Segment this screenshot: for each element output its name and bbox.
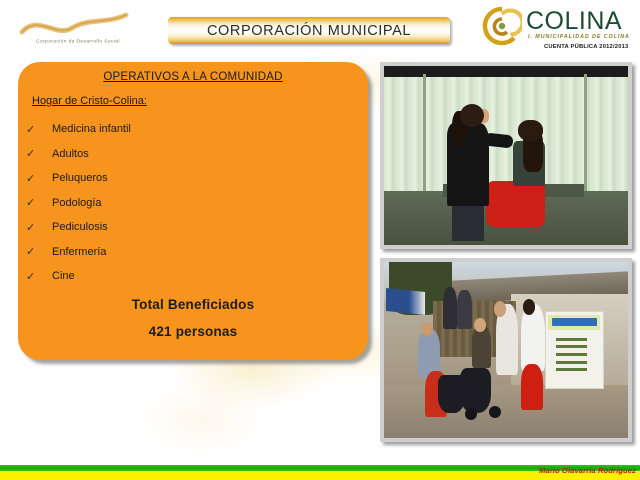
total-beneficiaries-value: 421 personas [18,324,368,339]
colina-wordmark: COLINA [526,7,622,36]
mayor-signature: Mario Olavarría Rodríguez [539,466,636,475]
check-mark-icon: ✓ [26,196,44,209]
photo-community-event [380,258,632,442]
wave-swoosh-icon [14,8,132,42]
content-card: OPERATIVOS A LA COMUNIDAD Hogar de Crist… [18,62,368,360]
check-mark-icon: ✓ [26,147,44,160]
check-mark-icon: ✓ [26,172,44,185]
photo-scene-outdoor [384,262,628,438]
photo-scene-indoor [384,66,628,245]
slide-title-banner: CORPORACIÓN MUNICIPAL [168,17,450,44]
corporacion-logo-caption: Corporación de Desarrollo Social [36,38,120,44]
colina-municipality-logo: COLINA I. MUNICIPALIDAD DE COLINA CUENTA… [482,4,636,56]
list-item: ✓ Cine [18,264,368,289]
services-check-list: ✓ Medicina infantil ✓ Adultos ✓ Peluquer… [18,117,368,289]
total-beneficiaries-label: Total Beneficiados [18,297,368,312]
colina-poster [545,311,604,388]
cuenta-publica-label: CUENTA PÚBLICA 2012/2013 [544,44,628,50]
check-mark-icon: ✓ [26,123,44,136]
list-item: ✓ Adultos [18,142,368,167]
list-item-label: Podología [52,197,102,209]
colina-spiral-icon [482,6,522,46]
totals-block: Total Beneficiados 421 personas [18,297,368,339]
photo-hair-care-image [384,66,628,245]
slide-canvas: Corporación de Desarrollo Social CORPORA… [0,0,640,480]
list-item-label: Peluqueros [52,172,108,184]
list-item-label: Adultos [52,148,89,160]
list-item: ✓ Peluqueros [18,166,368,191]
list-item-label: Enfermería [52,246,106,258]
list-item-label: Cine [52,270,75,282]
check-mark-icon: ✓ [26,245,44,258]
corporacion-desarrollo-social-logo: Corporación de Desarrollo Social [14,8,132,50]
page-title: CORPORACIÓN MUNICIPAL [207,23,411,39]
list-item: ✓ Medicina infantil [18,117,368,142]
check-mark-icon: ✓ [26,270,44,283]
list-item: ✓ Enfermería [18,240,368,265]
list-item: ✓ Podología [18,191,368,216]
list-item-label: Medicina infantil [52,123,131,135]
list-item-label: Pediculosis [52,221,108,233]
check-mark-icon: ✓ [26,221,44,234]
colina-subtitle: I. MUNICIPALIDAD DE COLINA [528,34,630,40]
list-item: ✓ Pediculosis [18,215,368,240]
card-subtitle: Hogar de Cristo-Colina: [32,95,147,107]
card-title: OPERATIVOS A LA COMUNIDAD [18,71,368,83]
photo-hair-care [380,62,632,249]
photo-community-event-image [384,262,628,438]
